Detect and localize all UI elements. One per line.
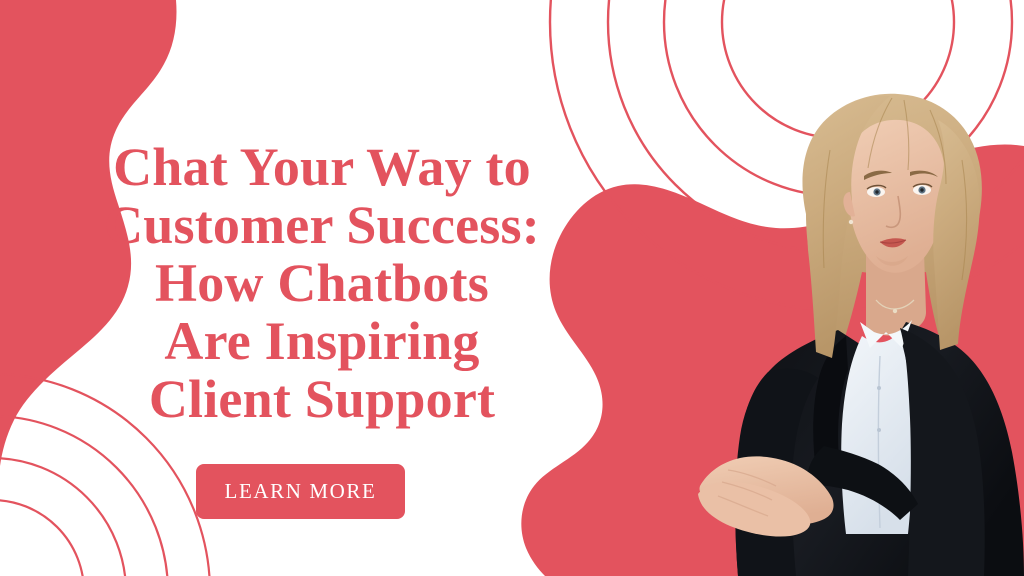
shirt-button-1 xyxy=(877,386,881,390)
headline: Chat Your Way to Customer Success: How C… xyxy=(52,138,592,428)
promo-banner: Chat Your Way to Customer Success: How C… xyxy=(0,0,1024,576)
necklace-pendant xyxy=(893,309,897,313)
headline-line-3: How Chatbots xyxy=(52,254,592,312)
headline-line-5: Client Support xyxy=(52,370,592,428)
pupil-left xyxy=(875,190,878,193)
earring xyxy=(849,220,853,224)
headline-line-2: Customer Success: xyxy=(52,196,592,254)
learn-more-button[interactable]: LEARN MORE xyxy=(196,464,405,519)
headline-line-4: Are Inspiring xyxy=(52,312,592,370)
headline-line-1: Chat Your Way to xyxy=(52,138,592,196)
shirt-button-2 xyxy=(877,428,881,432)
pupil-right xyxy=(920,188,923,191)
